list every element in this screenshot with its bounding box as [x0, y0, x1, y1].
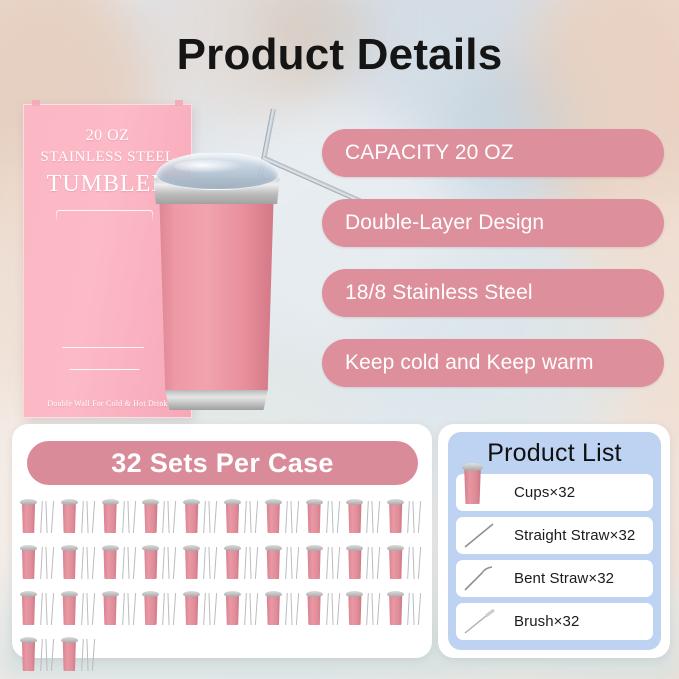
list-item[interactable]: Straight Straw×32 [456, 517, 653, 554]
straw-icon [127, 593, 129, 625]
straw-icon [40, 593, 43, 625]
set-item [305, 589, 346, 627]
straw-icon [418, 547, 422, 579]
box-tumbler-outline-icon [56, 210, 153, 370]
straw-icon [45, 639, 47, 671]
tumbler-icon [225, 594, 240, 625]
straw-icon [168, 501, 170, 533]
tumbler-body [154, 186, 279, 391]
straw-icon [163, 593, 166, 625]
tumbler-icon [62, 502, 77, 533]
feature-pill-label: CAPACITY 20 OZ [345, 141, 514, 165]
straw-icon [290, 547, 292, 579]
straw-icon [173, 501, 177, 533]
set-item [386, 589, 427, 627]
straw-icon [377, 501, 381, 533]
straw-icon [249, 501, 251, 533]
set-item [141, 497, 182, 535]
set-item [141, 589, 182, 627]
straight-straw-icon [462, 521, 504, 550]
tumbler-icon [347, 594, 362, 625]
tumbler-lid-highlight [174, 160, 244, 173]
feature-pill-temperature: Keep cold and Keep warm [322, 339, 664, 387]
tumbler-icon [103, 502, 118, 533]
straw-icon [81, 593, 84, 625]
straw-icon [296, 593, 300, 625]
straw-icon [127, 547, 129, 579]
straw-icon [92, 501, 96, 533]
set-item [386, 497, 427, 535]
tumbler-lid-icon [142, 499, 159, 505]
box-tumbler-outline-base [62, 347, 144, 348]
straw-icon [407, 547, 410, 579]
sets-banner: 32 Sets Per Case [27, 441, 418, 485]
straw-icon [45, 501, 47, 533]
straw-icon [285, 547, 288, 579]
tumbler-icon [347, 548, 362, 579]
set-item [60, 497, 101, 535]
straw-icon [86, 639, 88, 671]
straw-icon [244, 593, 247, 625]
tumbler-icon [184, 594, 199, 625]
box-flap [175, 100, 183, 106]
straw-icon [418, 501, 422, 533]
tumbler-lid-icon [102, 499, 119, 505]
straw-icon [407, 501, 410, 533]
straw-icon [336, 593, 340, 625]
tumbler-icon [62, 594, 77, 625]
straw-icon [203, 501, 206, 533]
tumbler-icon [462, 461, 483, 505]
set-item [19, 635, 60, 673]
straw-icon [132, 593, 136, 625]
tumbler-lid-icon [224, 499, 241, 505]
feature-pill-stainless-steel: 18/8 Stainless Steel [322, 269, 664, 317]
straw-icon [367, 501, 370, 533]
straw-icon [331, 501, 333, 533]
tumbler-icon [21, 548, 36, 579]
straw-icon [132, 547, 136, 579]
set-item [19, 543, 60, 581]
tumbler-lid-icon [265, 499, 282, 505]
straw-icon [173, 593, 177, 625]
straw-icon [372, 501, 374, 533]
straw-icon [249, 547, 251, 579]
set-item [223, 543, 264, 581]
tumbler-icon [307, 548, 322, 579]
tumbler-icon [184, 502, 199, 533]
tumbler-icon [388, 502, 403, 533]
straw-icon [51, 501, 55, 533]
sets-grid [19, 497, 427, 673]
tumbler-icon [266, 594, 281, 625]
straw-icon [285, 501, 288, 533]
list-item-label: Cups×32 [514, 484, 575, 501]
set-item [141, 543, 182, 581]
tumbler-lid-icon [142, 545, 159, 551]
tumbler-lid-icon [387, 545, 404, 551]
straw-icon [163, 547, 166, 579]
tumbler-icon [266, 502, 281, 533]
list-item[interactable]: Cups×32 [456, 474, 653, 511]
straw-icon [367, 593, 370, 625]
tumbler-icon [62, 640, 77, 671]
set-item [60, 543, 101, 581]
straw-icon [86, 547, 88, 579]
tumbler-icon [103, 594, 118, 625]
tumbler-lid-icon [20, 591, 37, 597]
feature-pill-label: Keep cold and Keep warm [345, 351, 594, 375]
straw-icon [326, 593, 329, 625]
straw-icon [40, 547, 43, 579]
set-item [182, 497, 223, 535]
straw-icon [331, 547, 333, 579]
set-item [223, 589, 264, 627]
straw-icon [372, 593, 374, 625]
set-item [223, 497, 264, 535]
tumbler-lid-icon [20, 545, 37, 551]
straw-icon [244, 501, 247, 533]
straw-icon [51, 593, 55, 625]
straw-icon [244, 547, 247, 579]
tumbler-icon [103, 548, 118, 579]
straw-icon [249, 593, 251, 625]
straw-icon [40, 501, 43, 533]
set-item [101, 497, 142, 535]
tumbler-lid-icon [306, 499, 323, 505]
straw-icon [51, 547, 55, 579]
straw-icon [92, 593, 96, 625]
straw-icon [326, 501, 329, 533]
tumbler-icon [143, 548, 158, 579]
tumbler-icon [388, 594, 403, 625]
straw-icon [285, 593, 288, 625]
tumbler-lid-icon [265, 591, 282, 597]
tumbler-icon [347, 502, 362, 533]
straw-icon [413, 501, 415, 533]
tumbler-lid-icon [306, 591, 323, 597]
set-item [19, 497, 60, 535]
tumbler-icon [21, 502, 36, 533]
tumbler-lid-icon [183, 499, 200, 505]
tumbler-lid-icon [306, 545, 323, 551]
tumbler-lid-icon [61, 545, 78, 551]
straw-icon [372, 547, 374, 579]
straw-icon [45, 593, 47, 625]
straw-icon [407, 593, 410, 625]
tumbler-lid-icon [61, 637, 78, 643]
tumbler-lid-icon [387, 499, 404, 505]
bent-straw-icon [462, 564, 504, 593]
set-item [345, 589, 386, 627]
set-item [182, 543, 223, 581]
straw-icon [418, 593, 422, 625]
straw-icon [336, 547, 340, 579]
set-item [101, 543, 142, 581]
tumbler-icon [307, 594, 322, 625]
straw-icon [40, 639, 43, 671]
feature-pill-label: 18/8 Stainless Steel [345, 281, 533, 305]
straw-icon [377, 547, 381, 579]
box-flap [32, 100, 40, 106]
straw-icon [132, 501, 136, 533]
hero-tumbler-image [150, 140, 283, 416]
straw-icon [81, 639, 84, 671]
straw-icon [209, 593, 211, 625]
tumbler-lid-icon [102, 591, 119, 597]
set-item [60, 635, 101, 673]
straw-icon [209, 547, 211, 579]
product-list-panel: Product List Cups×32 Straight Straw×32 B… [448, 432, 661, 650]
tumbler-lid-icon [224, 591, 241, 597]
straw-icon [214, 501, 218, 533]
set-item [264, 543, 305, 581]
set-item [345, 497, 386, 535]
list-item[interactable]: Bent Straw×32 [456, 560, 653, 597]
tumbler-icon [266, 548, 281, 579]
set-item [101, 589, 142, 627]
tumbler-lid-icon [142, 591, 159, 597]
straw-icon [122, 547, 125, 579]
tumbler-icon [225, 548, 240, 579]
straw-icon [214, 593, 218, 625]
product-list-title: Product List [456, 438, 653, 468]
set-item [305, 497, 346, 535]
straw-icon [255, 547, 259, 579]
straw-icon [214, 547, 218, 579]
tumbler-steel-base [163, 390, 270, 410]
tumbler-icon [388, 548, 403, 579]
tumbler-lid-icon [387, 591, 404, 597]
list-item[interactable]: Brush×32 [456, 603, 653, 640]
straw-icon [51, 639, 55, 671]
straw-icon [413, 593, 415, 625]
straw-icon [203, 547, 206, 579]
tumbler-icon [143, 502, 158, 533]
tumbler-lid-icon [20, 637, 37, 643]
sets-banner-label: 32 Sets Per Case [111, 448, 333, 479]
straw-icon [296, 547, 300, 579]
feature-pill-double-layer: Double-Layer Design [322, 199, 664, 247]
straw-icon [122, 501, 125, 533]
tumbler-lid-icon [346, 499, 363, 505]
set-item [345, 543, 386, 581]
straw-icon [81, 547, 84, 579]
tumbler-icon [307, 502, 322, 533]
tumbler-lid-icon [61, 591, 78, 597]
straw-icon [168, 593, 170, 625]
tumbler-lid-icon [265, 545, 282, 551]
straw-icon [377, 593, 381, 625]
brush-icon [462, 607, 504, 636]
straw-icon [173, 547, 177, 579]
tumbler-lid-icon [102, 545, 119, 551]
tumbler-lid-icon [346, 545, 363, 551]
set-item [264, 589, 305, 627]
set-item [19, 589, 60, 627]
feature-pill-label: Double-Layer Design [345, 211, 544, 235]
list-item-label: Straight Straw×32 [514, 527, 635, 544]
straw-icon [81, 501, 84, 533]
straw-icon [367, 547, 370, 579]
tumbler-lid-icon [20, 499, 37, 505]
set-item [386, 543, 427, 581]
tumbler-icon [225, 502, 240, 533]
tumbler-icon [143, 594, 158, 625]
set-item [182, 589, 223, 627]
straw-icon [122, 593, 125, 625]
list-item-label: Brush×32 [514, 613, 579, 630]
tumbler-lid-icon [224, 545, 241, 551]
set-item [60, 589, 101, 627]
feature-pill-capacity: CAPACITY 20 OZ [322, 129, 664, 177]
straw-icon [203, 593, 206, 625]
tumbler-lid-icon [61, 499, 78, 505]
straw-icon [336, 501, 340, 533]
straw-icon [163, 501, 166, 533]
straw-icon [45, 547, 47, 579]
tumbler-lid-icon [346, 591, 363, 597]
tumbler-lid-icon [183, 545, 200, 551]
tumbler-icon [21, 640, 36, 671]
tumbler-lid-icon [183, 591, 200, 597]
feature-pill-list: CAPACITY 20 OZ Double-Layer Design 18/8 … [322, 129, 664, 387]
straw-icon [92, 547, 96, 579]
straw-icon [168, 547, 170, 579]
tumbler-icon [62, 548, 77, 579]
straw-icon [290, 593, 292, 625]
straw-icon [413, 547, 415, 579]
straw-icon [127, 501, 129, 533]
straw-icon [326, 547, 329, 579]
straw-icon [92, 639, 96, 671]
straw-icon [290, 501, 292, 533]
straw-icon [86, 593, 88, 625]
tumbler-icon [184, 548, 199, 579]
tumbler-icon [21, 594, 36, 625]
straw-icon [296, 501, 300, 533]
product-detail-image: Product Details 20 OZ STAINLESS STEEL TU… [0, 0, 679, 679]
set-item [305, 543, 346, 581]
straw-icon [331, 593, 333, 625]
straw-icon [255, 501, 259, 533]
set-item [264, 497, 305, 535]
list-item-label: Bent Straw×32 [514, 570, 614, 587]
straw-icon [209, 501, 211, 533]
straw-icon [86, 501, 88, 533]
straw-icon [255, 593, 259, 625]
page-title: Product Details [0, 30, 679, 80]
